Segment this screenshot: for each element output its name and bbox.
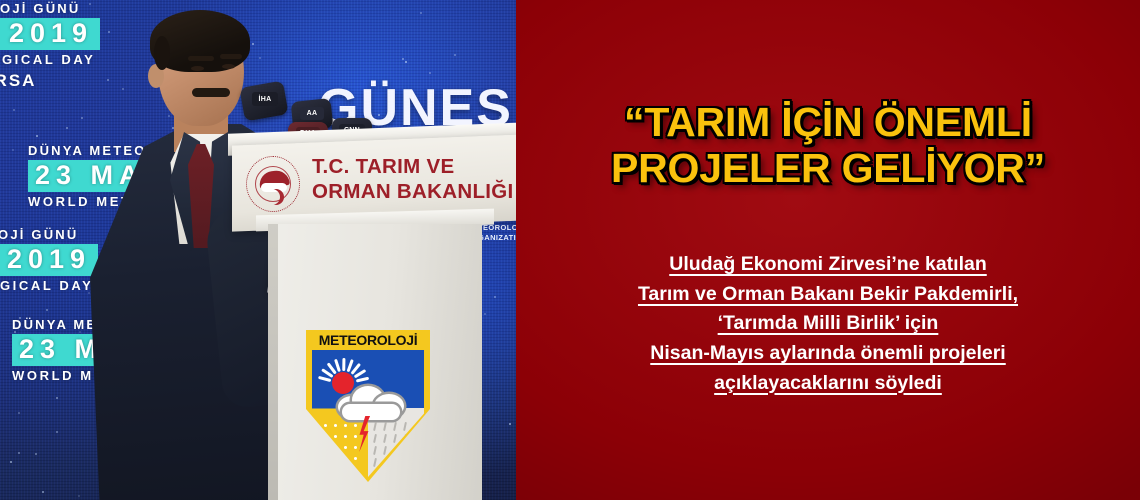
mic-flag-iha: İHA <box>252 92 278 106</box>
hail-dot <box>344 424 347 427</box>
headline: “TARIM İÇİN ÖNEMLİ PROJELER GELİYOR” <box>516 100 1140 192</box>
podium-sign-line-2: ORMAN BAKANLIĞI <box>312 179 514 204</box>
speaker-hair <box>150 10 250 72</box>
standfirst-line-4: Nisan-Mayıs aylarında önemli projeleri <box>650 339 1005 369</box>
meteoroloji-logo: METEOROLOJİ <box>306 330 430 482</box>
standfirst: Uludağ Ekonomi Zirvesi’ne katılan Tarım … <box>546 250 1110 398</box>
cloud-icon <box>334 384 408 418</box>
hail-dot <box>334 435 337 438</box>
ministry-emblem-icon <box>246 156 300 212</box>
podium-sign-line-1: T.C. TARIM VE <box>312 154 514 179</box>
backdrop-line-date: T 2019 <box>0 244 98 276</box>
standfirst-line-3: ‘Tarımda Milli Birlik’ için <box>718 309 939 339</box>
sun-ray <box>342 358 345 371</box>
headline-line-2: PROJELER GELİYOR” <box>516 146 1140 192</box>
standfirst-line-5: açıklayacaklarını söyledi <box>714 369 942 399</box>
backdrop-line-date: T 2019 <box>0 18 100 50</box>
mic-flag-label: İHA <box>259 96 272 103</box>
backdrop-text-block: ROLOJİ GÜNÜ T 2019 OLOGICAL DAY <box>0 228 98 292</box>
speaker-brow <box>220 54 242 59</box>
news-card: ROLOJİ GÜNÜ T 2019 OLOGICAL DAY BURSA DÜ… <box>0 0 1140 500</box>
rain-streak <box>403 458 407 467</box>
hail-dot <box>354 457 357 460</box>
news-photo: ROLOJİ GÜNÜ T 2019 OLOGICAL DAY BURSA DÜ… <box>0 0 516 500</box>
hail-dot <box>354 446 357 449</box>
standfirst-line-1: Uludağ Ekonomi Zirvesi’ne katılan <box>669 250 987 280</box>
backdrop-text-block: ROLOJİ GÜNÜ T 2019 OLOGICAL DAY BURSA <box>0 2 100 89</box>
speaker-moustache <box>192 88 230 97</box>
hail-dot <box>344 435 347 438</box>
rain-streak <box>403 446 407 455</box>
headline-line-1: “TARIM İÇİN ÖNEMLİ <box>516 100 1140 146</box>
speaker-eye <box>222 64 235 69</box>
speaker-eye <box>191 66 204 71</box>
backdrop-line-tr: ROLOJİ GÜNÜ <box>0 228 98 241</box>
hail-dot <box>354 424 357 427</box>
hail-dot <box>324 435 327 438</box>
mic-flag-aa: AA <box>300 107 324 120</box>
hail-dot <box>324 424 327 427</box>
rain-streak <box>403 470 407 477</box>
hail-dot <box>334 457 337 460</box>
rain-streak <box>383 470 387 477</box>
backdrop-line-en: OLOGICAL DAY <box>0 53 100 66</box>
hail-dot <box>344 457 347 460</box>
hail-dot <box>344 468 347 471</box>
backdrop-line-tr: ROLOJİ GÜNÜ <box>0 2 100 15</box>
hail-dot <box>334 424 337 427</box>
podium-column-edge <box>268 224 278 500</box>
hail-dot <box>324 446 327 449</box>
hail-dot <box>324 468 327 471</box>
hail-dot <box>334 446 337 449</box>
rain-streak <box>393 458 397 467</box>
hail-dot <box>344 446 347 449</box>
hail-dot <box>354 435 357 438</box>
sun-ray <box>356 377 369 383</box>
headline-panel: “TARIM İÇİN ÖNEMLİ PROJELER GELİYOR” Ulu… <box>516 0 1140 500</box>
speaker-brow <box>188 56 214 61</box>
shield-inner <box>312 350 424 477</box>
rain-streak <box>393 470 397 477</box>
crescent-icon <box>264 189 280 205</box>
hail-dot <box>324 457 327 460</box>
backdrop-line-city: BURSA <box>0 72 100 89</box>
shield-label: METEOROLOJİ <box>306 332 430 348</box>
mic-flag-label: AA <box>307 110 318 117</box>
hail-dot <box>334 468 337 471</box>
backdrop-line-en: OLOGICAL DAY <box>0 279 98 292</box>
standfirst-line-2: Tarım ve Orman Bakanı Bekir Pakdemirli, <box>638 280 1018 310</box>
podium-sign-text: T.C. TARIM VE ORMAN BAKANLIĞI <box>312 154 514 204</box>
